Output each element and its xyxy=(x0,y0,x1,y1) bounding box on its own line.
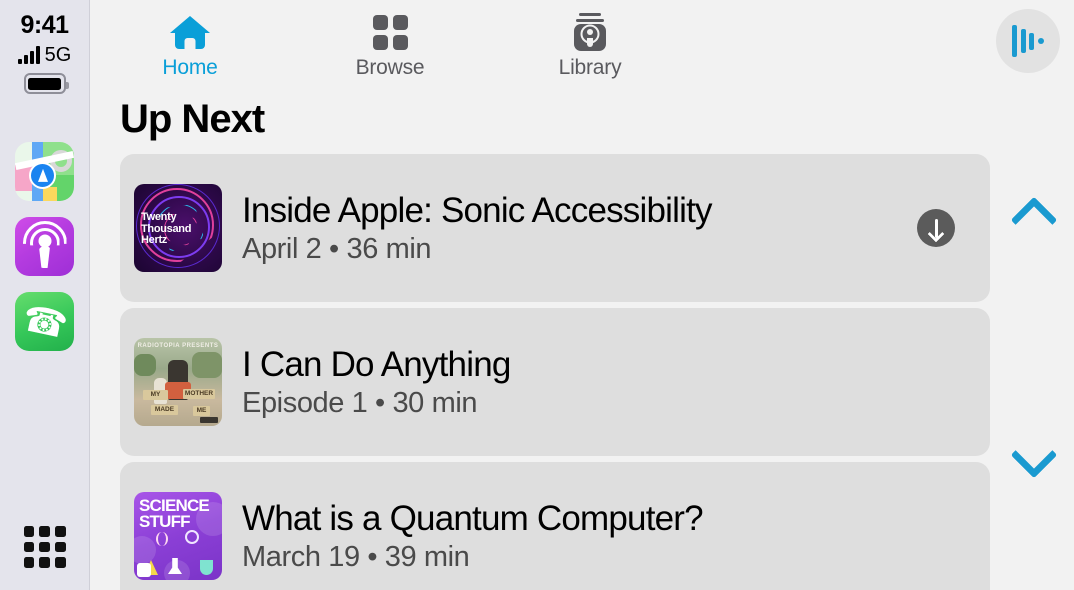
status-bar: 9:41 5G xyxy=(0,0,89,94)
episode-title: Inside Apple: Sonic Accessibility xyxy=(242,190,976,231)
tab-home-label: Home xyxy=(162,56,217,80)
episode-meta: April 2 • 36 min xyxy=(242,231,976,267)
episode-artwork: SCIENCE STUFF xyxy=(134,492,222,580)
sidebar: 9:41 5G ☎ xyxy=(0,0,90,590)
artwork-sign-1: MY xyxy=(143,390,168,400)
grid-browse-icon xyxy=(373,10,408,54)
list-item-text: I Can Do Anything Episode 1 • 30 min xyxy=(242,344,976,421)
artwork-line-1: Twenty xyxy=(141,212,191,224)
chevron-up-icon[interactable] xyxy=(1008,200,1060,230)
tab-bar: Home Browse Library xyxy=(90,0,1074,92)
status-clock: 9:41 xyxy=(20,10,68,40)
content-area: Up Next Twenty Thousand Hertz Insi xyxy=(90,92,1074,590)
download-arrow-icon[interactable] xyxy=(917,209,955,247)
battery-full-icon xyxy=(24,73,66,94)
waveform-icon xyxy=(1012,25,1017,57)
list-item[interactable]: SCIENCE STUFF What is a Quantum Computer… xyxy=(120,462,990,590)
status-network-label: 5G xyxy=(45,46,72,64)
list-item-text: What is a Quantum Computer? March 19 • 3… xyxy=(242,498,976,575)
artwork-sign-3: MADE xyxy=(151,405,178,415)
artwork-sign-2: MOTHER xyxy=(183,389,215,399)
home-icon xyxy=(170,10,210,54)
artwork-line-2: STUFF xyxy=(139,514,209,530)
library-podcast-icon xyxy=(572,10,608,54)
main-panel: Home Browse Library xyxy=(90,0,1074,590)
now-playing-button[interactable] xyxy=(996,9,1060,73)
chevron-down-icon[interactable] xyxy=(1008,445,1060,475)
list-item[interactable]: Twenty Thousand Hertz Inside Apple: Soni… xyxy=(120,154,990,302)
artwork-line-3: Hertz xyxy=(141,235,191,247)
up-next-list: Twenty Thousand Hertz Inside Apple: Soni… xyxy=(120,154,990,590)
artwork-sign-4: ME xyxy=(193,406,210,416)
list-item-text: Inside Apple: Sonic Accessibility April … xyxy=(242,190,976,267)
page-title: Up Next xyxy=(120,97,1074,141)
phone-icon[interactable]: ☎ xyxy=(15,292,74,351)
status-signal-group: 5G xyxy=(18,46,72,64)
episode-title: I Can Do Anything xyxy=(242,344,976,385)
episode-artwork: Twenty Thousand Hertz xyxy=(134,184,222,272)
episode-artwork: RADIOTOPIA PRESENTS MY MOTHER MADE ME xyxy=(134,338,222,426)
carplay-screen: 9:41 5G ☎ xyxy=(0,0,1074,590)
list-item[interactable]: RADIOTOPIA PRESENTS MY MOTHER MADE ME I … xyxy=(120,308,990,456)
tab-browse-label: Browse xyxy=(356,56,425,80)
episode-meta: Episode 1 • 30 min xyxy=(242,385,976,421)
artwork-header: RADIOTOPIA PRESENTS xyxy=(134,343,222,349)
signal-bars-icon xyxy=(18,46,40,64)
tab-library[interactable]: Library xyxy=(490,0,690,80)
podcasts-icon[interactable] xyxy=(15,217,74,276)
episode-meta: March 19 • 39 min xyxy=(242,539,976,575)
sidebar-app-list: ☎ xyxy=(15,142,74,351)
maps-icon[interactable] xyxy=(15,142,74,201)
tab-library-label: Library xyxy=(559,56,622,80)
tab-home[interactable]: Home xyxy=(90,0,290,80)
tab-browse[interactable]: Browse xyxy=(290,0,490,80)
episode-title: What is a Quantum Computer? xyxy=(242,498,976,539)
grid-apps-icon[interactable] xyxy=(24,526,66,568)
